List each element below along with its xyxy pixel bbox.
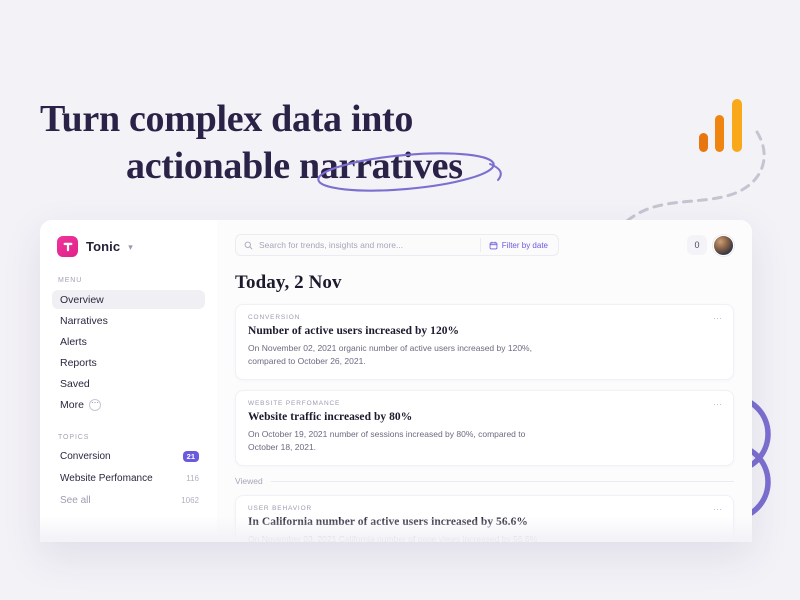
card-title: In California number of active users inc… — [248, 516, 721, 528]
sidebar-item-label: More — [60, 399, 84, 411]
sidebar-item-more[interactable]: More ⋯ — [52, 395, 205, 414]
narrative-card[interactable]: ⋯ CONVERSION Number of active users incr… — [235, 304, 734, 380]
filter-by-date-button[interactable]: Filter by date — [480, 238, 556, 252]
ellipsis-horizontal-icon[interactable]: ⋯ — [713, 314, 723, 323]
search-bar[interactable]: Filter by date — [235, 234, 559, 256]
sidebar-item-conversion[interactable]: Conversion 21 — [52, 447, 205, 466]
card-body: On November 03, 2021 California number o… — [248, 533, 548, 542]
card-body: On October 19, 2021 number of sessions i… — [248, 428, 548, 454]
sidebar: Tonic ▾ MENU Overview Narratives Alerts … — [40, 220, 217, 542]
sidebar-item-website-perfomance[interactable]: Website Perfomance 116 — [52, 469, 205, 488]
status-badge: 21 — [183, 451, 199, 463]
page-title: Turn complex data into actionable narrat… — [0, 96, 560, 190]
narrative-card[interactable]: ⋯ WEBSITE PERFOMANCE Website traffic inc… — [235, 390, 734, 466]
sidebar-item-label: Reports — [60, 357, 97, 369]
sidebar-item-overview[interactable]: Overview — [52, 290, 205, 309]
topic-label: Conversion — [60, 451, 111, 462]
search-input[interactable] — [259, 240, 480, 250]
sidebar-item-alerts[interactable]: Alerts — [52, 332, 205, 351]
sidebar-item-label: Overview — [60, 294, 104, 306]
day-heading: Today, 2 Nov — [235, 272, 734, 294]
topic-count: 116 — [186, 474, 199, 483]
sidebar-item-label: Alerts — [60, 336, 87, 348]
topics-section-label: TOPICS — [52, 434, 205, 441]
app-window: Tonic ▾ MENU Overview Narratives Alerts … — [40, 220, 752, 542]
menu-section-label: MENU — [52, 277, 205, 284]
card-category: CONVERSION — [248, 314, 721, 321]
ellipsis-circle-icon: ⋯ — [89, 399, 101, 411]
card-body: On November 02, 2021 organic number of a… — [248, 342, 548, 368]
card-category: USER BEHAVIOR — [248, 505, 721, 512]
main-content: Filter by date 0 Today, 2 Nov ⋯ CONVERSI… — [217, 220, 752, 542]
headline-line-2: actionable narratives — [0, 143, 560, 190]
narrative-card-list: ⋯ CONVERSION Number of active users incr… — [235, 304, 734, 542]
avatar[interactable] — [713, 235, 734, 256]
notification-count-badge[interactable]: 0 — [687, 235, 707, 255]
sidebar-item-label: Saved — [60, 378, 90, 390]
card-category: WEBSITE PERFOMANCE — [248, 400, 721, 407]
topic-label: Website Perfomance — [60, 473, 153, 484]
headline-line-1: Turn complex data into — [0, 96, 560, 143]
sidebar-item-label: Narratives — [60, 315, 108, 327]
filter-by-date-label: Filter by date — [502, 241, 548, 250]
card-title: Number of active users increased by 120% — [248, 325, 721, 337]
chevron-down-icon[interactable]: ▾ — [128, 243, 133, 252]
ellipsis-horizontal-icon[interactable]: ⋯ — [713, 505, 723, 514]
sidebar-item-saved[interactable]: Saved — [52, 374, 205, 393]
toolbar-right: 0 — [687, 235, 734, 256]
sidebar-item-see-all[interactable]: See all 1062 — [52, 491, 205, 510]
brand-switcher[interactable]: Tonic ▾ — [52, 234, 205, 257]
toolbar: Filter by date 0 — [235, 234, 734, 256]
sidebar-item-narratives[interactable]: Narratives — [52, 311, 205, 330]
brand-name: Tonic — [86, 239, 120, 254]
card-title: Website traffic increased by 80% — [248, 411, 721, 423]
see-all-count: 1062 — [181, 496, 199, 505]
viewed-divider-label: Viewed — [235, 476, 263, 486]
search-icon — [244, 241, 253, 250]
divider-line — [271, 481, 734, 482]
narrative-card[interactable]: ⋯ USER BEHAVIOR In California number of … — [235, 495, 734, 542]
notification-count: 0 — [694, 240, 699, 250]
tonic-logo-icon — [57, 236, 78, 257]
ellipsis-horizontal-icon[interactable]: ⋯ — [713, 400, 723, 409]
viewed-divider: Viewed — [235, 476, 734, 486]
calendar-icon — [489, 241, 498, 250]
sidebar-item-reports[interactable]: Reports — [52, 353, 205, 372]
see-all-label: See all — [60, 495, 91, 506]
